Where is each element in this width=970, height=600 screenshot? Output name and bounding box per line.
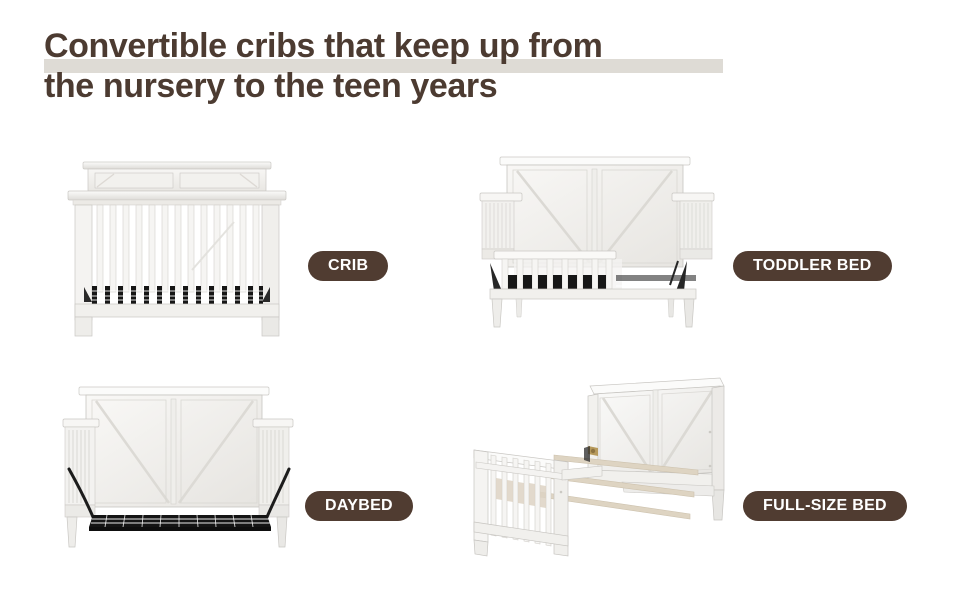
product-cell-full-size-bed: [462, 370, 742, 560]
daybed-illustration: [57, 375, 307, 555]
crib-illustration: [62, 150, 292, 340]
product-cell-toddler-bed: [472, 145, 722, 340]
badge-daybed[interactable]: DAYBED: [305, 491, 413, 521]
badge-crib-label: CRIB: [328, 257, 368, 275]
product-cell-crib: [62, 150, 292, 340]
badge-full-size-bed-label: FULL-SIZE BED: [763, 497, 887, 515]
product-cell-daybed: [57, 375, 307, 555]
badge-daybed-label: DAYBED: [325, 497, 393, 515]
page-title: Convertible cribs that keep up from the …: [44, 26, 744, 106]
headline-container: Convertible cribs that keep up from the …: [44, 26, 744, 116]
badge-toddler-bed[interactable]: TODDLER BED: [733, 251, 892, 281]
full-size-bed-illustration: [462, 370, 742, 560]
infographic-page: Convertible cribs that keep up from the …: [0, 0, 970, 600]
toddler-bed-illustration: [472, 145, 722, 340]
badge-crib[interactable]: CRIB: [308, 251, 388, 281]
badge-toddler-bed-label: TODDLER BED: [753, 257, 872, 275]
badge-full-size-bed[interactable]: FULL-SIZE BED: [743, 491, 907, 521]
